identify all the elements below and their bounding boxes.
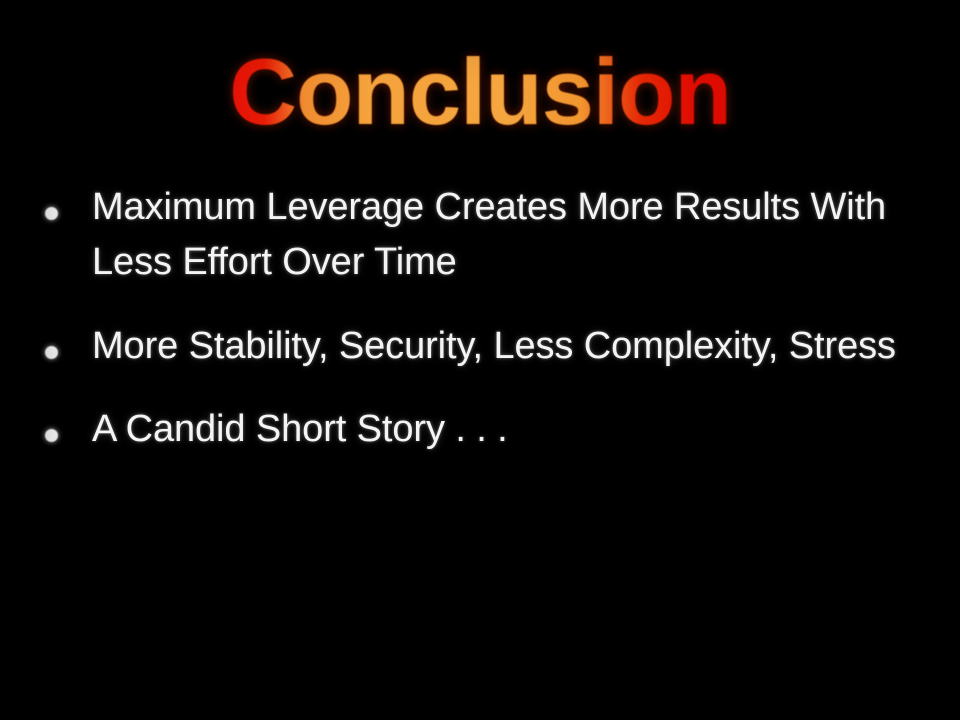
- bullet-list: Maximum Leverage Creates More Results Wi…: [38, 180, 938, 486]
- bullet-dot-icon: [45, 207, 58, 220]
- list-item-label: More Stability, Security, Less Complexit…: [92, 319, 938, 374]
- page-title: Conclusion: [229, 45, 731, 139]
- list-item-label: Maximum Leverage Creates More Results Wi…: [92, 180, 938, 291]
- list-item: A Candid Short Story . . .: [38, 402, 938, 457]
- list-item: More Stability, Security, Less Complexit…: [38, 319, 938, 374]
- list-item: Maximum Leverage Creates More Results Wi…: [38, 180, 938, 291]
- presentation-slide: Conclusion Maximum Leverage Creates More…: [0, 0, 960, 720]
- slide-title-container: Conclusion: [0, 0, 960, 202]
- list-item-label: A Candid Short Story . . .: [92, 402, 938, 457]
- bullet-dot-icon: [45, 429, 58, 442]
- bullet-dot-icon: [45, 346, 58, 359]
